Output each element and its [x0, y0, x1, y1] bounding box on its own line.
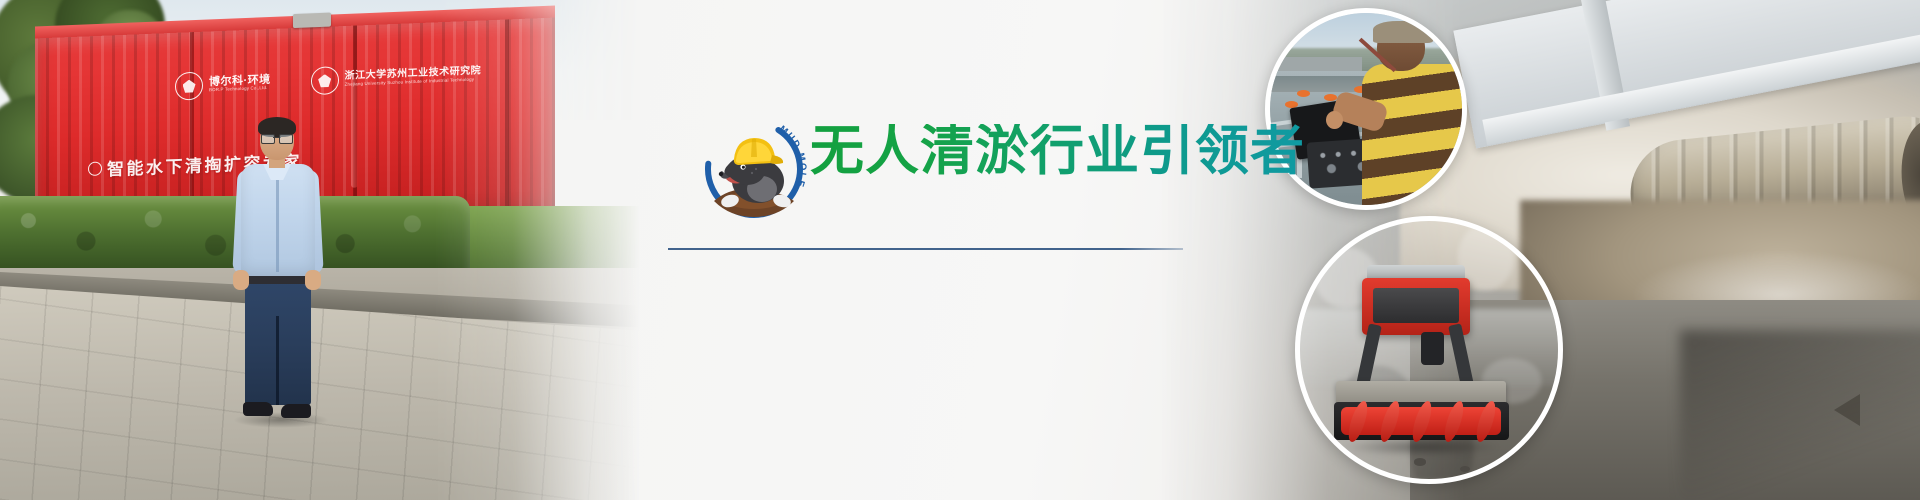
container-vent	[293, 13, 331, 29]
company-logo-icon	[175, 72, 203, 101]
circle-photo-dredging-robot	[1295, 216, 1563, 484]
striped-shirt	[1362, 64, 1467, 205]
brand-primary: 博尔科·环境 BOR.P Technology Co.,Ltd.	[175, 69, 271, 101]
mud-mole-logo[interactable]: MUD MOLE	[690, 105, 818, 233]
left-photo: 博尔科·环境 BOR.P Technology Co.,Ltd. 浙江大学苏州工…	[0, 0, 640, 500]
person-shoe-right	[281, 404, 311, 418]
container-seam	[505, 19, 509, 224]
headline-divider	[668, 248, 1183, 250]
brand-secondary: 浙江大学苏州工业技术研究院 Zhejiang University Suzhou…	[311, 60, 482, 95]
banner-headline: 无人清淤行业引领者	[810, 124, 1305, 178]
hero-banner: 博尔科·环境 BOR.P Technology Co.,Ltd. 浙江大学苏州工…	[0, 0, 1920, 500]
robot-motor	[1421, 332, 1444, 366]
shadow-overlay	[1680, 330, 1920, 500]
brand-primary-en: BOR.P Technology Co.,Ltd.	[209, 86, 271, 93]
slogan-bullet-icon	[88, 161, 102, 176]
operator	[1362, 25, 1467, 205]
orange-float-icon	[1297, 90, 1310, 97]
center-content: MUD MOLE 无人清淤行业引领者	[660, 0, 1260, 500]
operator-cap	[1373, 21, 1433, 43]
orange-float-icon	[1324, 94, 1337, 101]
person-hand-left	[233, 270, 249, 290]
arrow-icon	[1834, 394, 1860, 426]
person-glasses-icon	[261, 134, 293, 142]
person-shoe-left	[243, 402, 273, 416]
person-engineer	[225, 120, 335, 420]
mud-mole-logo-icon: MUD MOLE	[690, 105, 818, 233]
university-logo-icon	[311, 66, 339, 95]
operator-hand	[1326, 111, 1343, 129]
red-auger-screw	[1341, 407, 1501, 435]
person-hand-right	[305, 270, 321, 290]
person-belt	[245, 276, 311, 284]
